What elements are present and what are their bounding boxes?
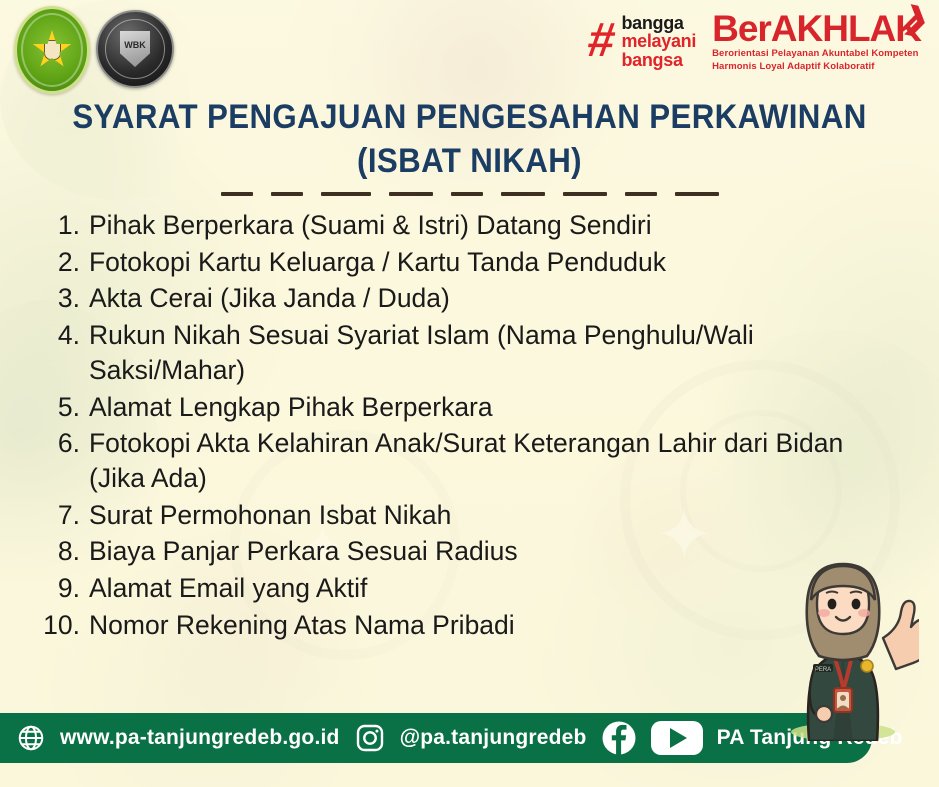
program-logos: # bangga melayani bangsa ❯ BerAKHLAK Ber… [588, 10, 921, 73]
list-item: 4.Rukun Nikah Sesuai Syariat Islam (Nama… [34, 318, 887, 387]
facebook-icon[interactable] [601, 720, 637, 756]
bmb-line-1: bangga [621, 14, 696, 32]
poster-canvas: ✦ ✦ WBK # bangga melayani bangsa ❯ BerAK… [0, 0, 939, 787]
list-item-text: Alamat Lengkap Pihak Berperkara [89, 390, 887, 425]
list-item-text: Rukun Nikah Sesuai Syariat Islam (Nama P… [89, 318, 887, 387]
list-item-number: 1. [34, 208, 89, 243]
instagram-icon[interactable] [354, 722, 386, 754]
list-item: 9.Alamat Email yang Aktif [34, 571, 887, 606]
list-item-text: Akta Cerai (Jika Janda / Duda) [89, 281, 887, 316]
divider-dash-6 [501, 192, 545, 196]
footer-contact-bar: www.pa-tanjungredeb.go.id @pa.tanjungred… [0, 713, 872, 763]
instagram-handle[interactable]: @pa.tanjungredeb [400, 726, 587, 750]
mascot-officer-waving: PERA [779, 546, 919, 741]
list-item-number: 8. [34, 534, 89, 569]
list-item: 5.Alamat Lengkap Pihak Berperkara [34, 390, 887, 425]
divider-dash-9 [675, 192, 719, 196]
list-item: 7.Surat Permohonan Isbat Nikah [34, 498, 887, 533]
berakhlak-wordmark: BerAKHLAK [712, 10, 921, 47]
list-item-text: Fotokopi Kartu Keluarga / Kartu Tanda Pe… [89, 245, 887, 280]
list-item: 1.Pihak Berperkara (Suami & Istri) Datan… [34, 208, 887, 243]
bmb-line-2: melayani [621, 32, 696, 50]
page-title: SYARAT PENGAJUAN PENGESAHAN PERKAWINAN (… [0, 96, 939, 196]
divider-dash-5 [451, 192, 483, 196]
berakhlak-logo: ❯ BerAKHLAK Berorientasi Pelayanan Akunt… [712, 10, 921, 73]
list-item-number: 6. [34, 426, 89, 461]
list-item-text: Nomor Rekening Atas Nama Pribadi [89, 608, 887, 643]
list-item-number: 4. [34, 318, 89, 353]
list-item: 3.Akta Cerai (Jika Janda / Duda) [34, 281, 887, 316]
divider-dash-4 [389, 192, 433, 196]
wbk-zona-integritas-seal-icon: WBK [96, 10, 174, 88]
institution-logos: WBK [14, 6, 174, 94]
list-item: 6.Fotokopi Akta Kelahiran Anak/Surat Ket… [34, 426, 887, 495]
divider-dash-7 [563, 192, 607, 196]
youtube-icon[interactable] [651, 721, 703, 755]
pengadilan-agama-seal-icon [14, 6, 90, 94]
bangga-melayani-bangsa-logo: # bangga melayani bangsa [588, 14, 696, 69]
list-item-number: 9. [34, 571, 89, 606]
list-item-text: Pihak Berperkara (Suami & Istri) Datang … [89, 208, 887, 243]
website-url[interactable]: www.pa-tanjungredeb.go.id [60, 726, 340, 750]
berakhlak-tagline-2: Harmonis Loyal Adaptif Kolaboratif [712, 61, 921, 73]
divider-dash-8 [625, 192, 657, 196]
list-item-number: 5. [34, 390, 89, 425]
divider-dash-3 [321, 192, 371, 196]
berakhlak-checkmark-icon: ❯ [900, 0, 932, 39]
hash-icon: # [585, 21, 617, 62]
list-item-text: Fotokopi Akta Kelahiran Anak/Surat Keter… [89, 426, 887, 495]
list-item-text: Alamat Email yang Aktif [89, 571, 887, 606]
globe-icon [16, 723, 46, 753]
list-item-number: 10. [34, 608, 89, 643]
bmb-line-3: bangsa [621, 51, 696, 69]
divider-dash-1 [221, 192, 253, 196]
title-divider [0, 192, 939, 196]
title-line-1: SYARAT PENGAJUAN PENGESAHAN PERKAWINAN [38, 96, 902, 140]
list-item: 2.Fotokopi Kartu Keluarga / Kartu Tanda … [34, 245, 887, 280]
divider-dash-2 [271, 192, 303, 196]
list-item-number: 2. [34, 245, 89, 280]
title-line-2: (ISBAT NIKAH) [38, 140, 902, 184]
requirements-list: 1.Pihak Berperkara (Suami & Istri) Datan… [34, 208, 887, 644]
berakhlak-tagline-1: Berorientasi Pelayanan Akuntabel Kompete… [712, 48, 921, 60]
list-item-text: Biaya Panjar Perkara Sesuai Radius [89, 534, 887, 569]
svg-text:PERA: PERA [815, 667, 831, 673]
list-item-text: Surat Permohonan Isbat Nikah [89, 498, 887, 533]
list-item: 10.Nomor Rekening Atas Nama Pribadi [34, 608, 887, 643]
list-item-number: 7. [34, 498, 89, 533]
list-item-number: 3. [34, 281, 89, 316]
list-item: 8.Biaya Panjar Perkara Sesuai Radius [34, 534, 887, 569]
